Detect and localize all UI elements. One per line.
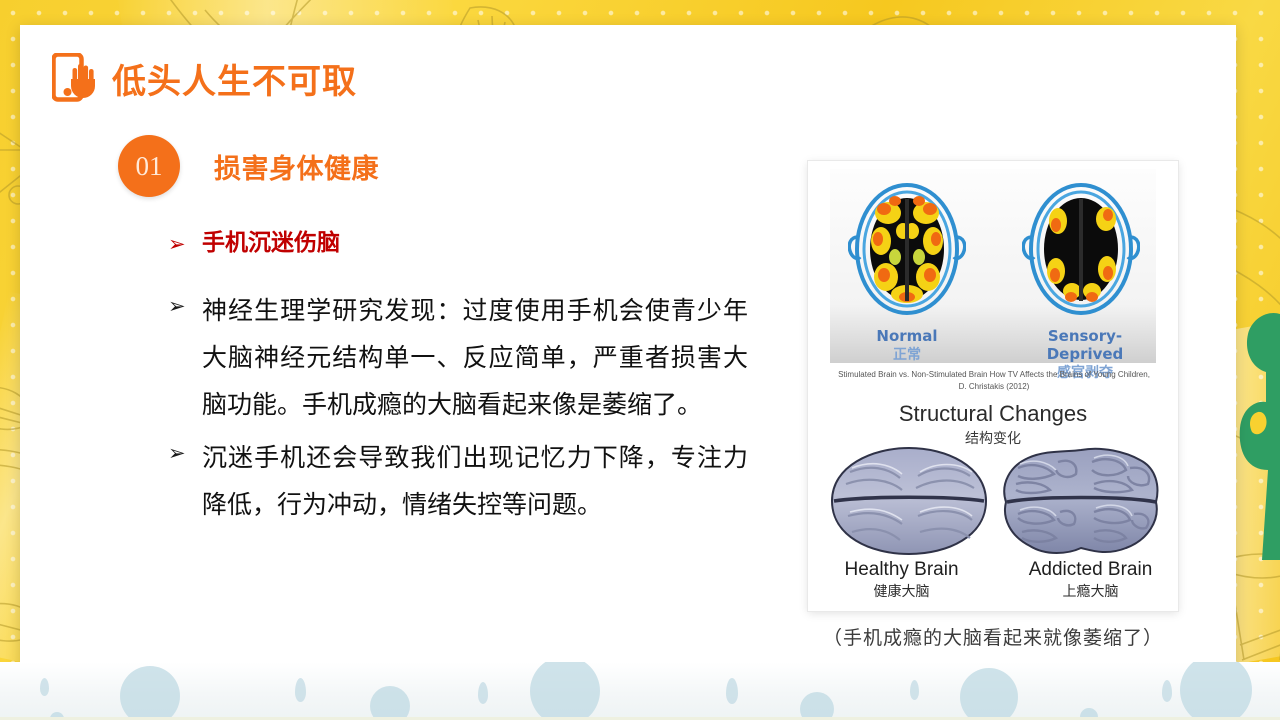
brain-comparison-pair (822, 446, 1164, 556)
section-title: 损害身体健康 (214, 147, 379, 186)
sensory-deprived-brain-scan-icon (1022, 179, 1140, 319)
list-item: ➢ 手机沉迷伤脑 (168, 225, 748, 265)
normal-brain-scan-icon (848, 179, 966, 319)
bottom-bubble-band (0, 662, 1280, 720)
bullet-arrow-icon: ➢ (168, 225, 202, 265)
list-item: ➢ 神经生理学研究发现：过度使用手机会使青少年大脑神经元结构单一、反应简单，严重… (168, 287, 748, 428)
scan-label-normal: Normal 正常 (832, 327, 982, 364)
section-header: 01 损害身体健康 (118, 135, 379, 197)
brain-label-addicted: Addicted Brain 上瘾大脑 (1003, 559, 1178, 601)
bullet-arrow-icon: ➢ (168, 287, 202, 327)
pet-scan-panel: Normal 正常 Sensory-Deprived 感官剥夺 (830, 169, 1156, 363)
healthy-brain-icon (826, 446, 992, 556)
cactus-decoration (1240, 313, 1280, 560)
figure-caption: （手机成瘾的大脑看起来就像萎缩了） (808, 623, 1178, 650)
list-item-text: 沉迷手机还会导致我们出现记忆力下降，专注力降低，行为冲动，情绪失控等问题。 (202, 434, 748, 528)
list-item-text: 神经生理学研究发现：过度使用手机会使青少年大脑神经元结构单一、反应简单，严重者损… (202, 287, 748, 428)
brain-figure-image: Normal 正常 Sensory-Deprived 感官剥夺 Stimulat… (808, 161, 1178, 611)
brain-figure-block: Normal 正常 Sensory-Deprived 感官剥夺 Stimulat… (808, 161, 1178, 650)
phone-hand-icon (52, 53, 96, 103)
structural-changes-heading: Structural Changes 结构变化 (808, 401, 1178, 448)
addicted-brain-icon (998, 446, 1164, 556)
section-number-badge: 01 (118, 135, 180, 197)
figure-citation: Stimulated Brain vs. Non-Stimulated Brai… (834, 369, 1154, 393)
bullet-arrow-icon: ➢ (168, 434, 202, 474)
slide-content-card: 低头人生不可取 01 损害身体健康 ➢ 手机沉迷伤脑 ➢ 神经生理学研究发现：过… (20, 25, 1236, 688)
list-item: ➢ 沉迷手机还会导致我们出现记忆力下降，专注力降低，行为冲动，情绪失控等问题。 (168, 434, 748, 528)
body-bullet-list: ➢ 手机沉迷伤脑 ➢ 神经生理学研究发现：过度使用手机会使青少年大脑神经元结构单… (168, 225, 748, 534)
brain-label-healthy: Healthy Brain 健康大脑 (814, 559, 989, 601)
page-title: 低头人生不可取 (112, 54, 357, 103)
slide-title-row: 低头人生不可取 (52, 53, 357, 103)
list-item-text: 手机沉迷伤脑 (202, 225, 748, 262)
